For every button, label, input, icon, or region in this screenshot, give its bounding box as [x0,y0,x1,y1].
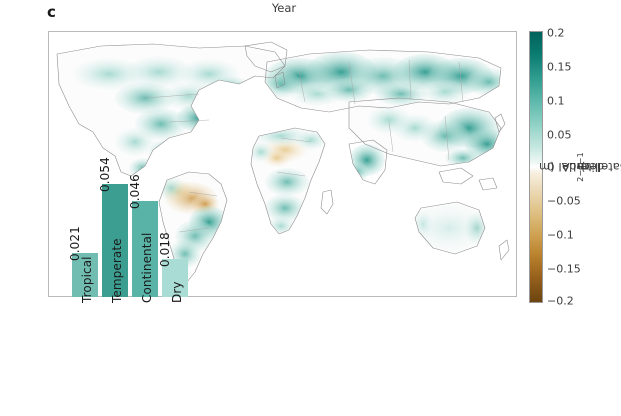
top-axis-title: Year [248,1,320,15]
colorbar-tick-0: 0.2 [547,27,565,40]
colorbar-label-sup1: 2 [575,177,585,182]
colorbar-tick-8: −0.2 [547,295,574,308]
bar-category-dry: Dry [170,281,184,303]
bar-value-continental: 0.046 [128,174,142,209]
colorbar-axis-label: Satellite LAI (m2 m−2 decade−1) [573,31,593,303]
colorbar-tick-3: 0.05 [547,129,572,142]
colorbar-tick-2: 0.1 [547,95,565,108]
colorbar-label-close: ) [581,160,586,174]
bar-category-continental: Continental [140,233,154,303]
figure-panel-c: c Year [0,0,621,416]
bar-value-dry: 0.018 [158,232,172,267]
bar-value-temperate: 0.054 [98,157,112,192]
bar-category-tropical: Tropical [80,256,94,303]
colorbar-tick-6: −0.1 [547,229,574,242]
bar-category-temperate: Temperate [110,238,124,303]
colorbar-tick-1: 0.15 [547,61,572,74]
panel-letter: c [47,3,56,21]
